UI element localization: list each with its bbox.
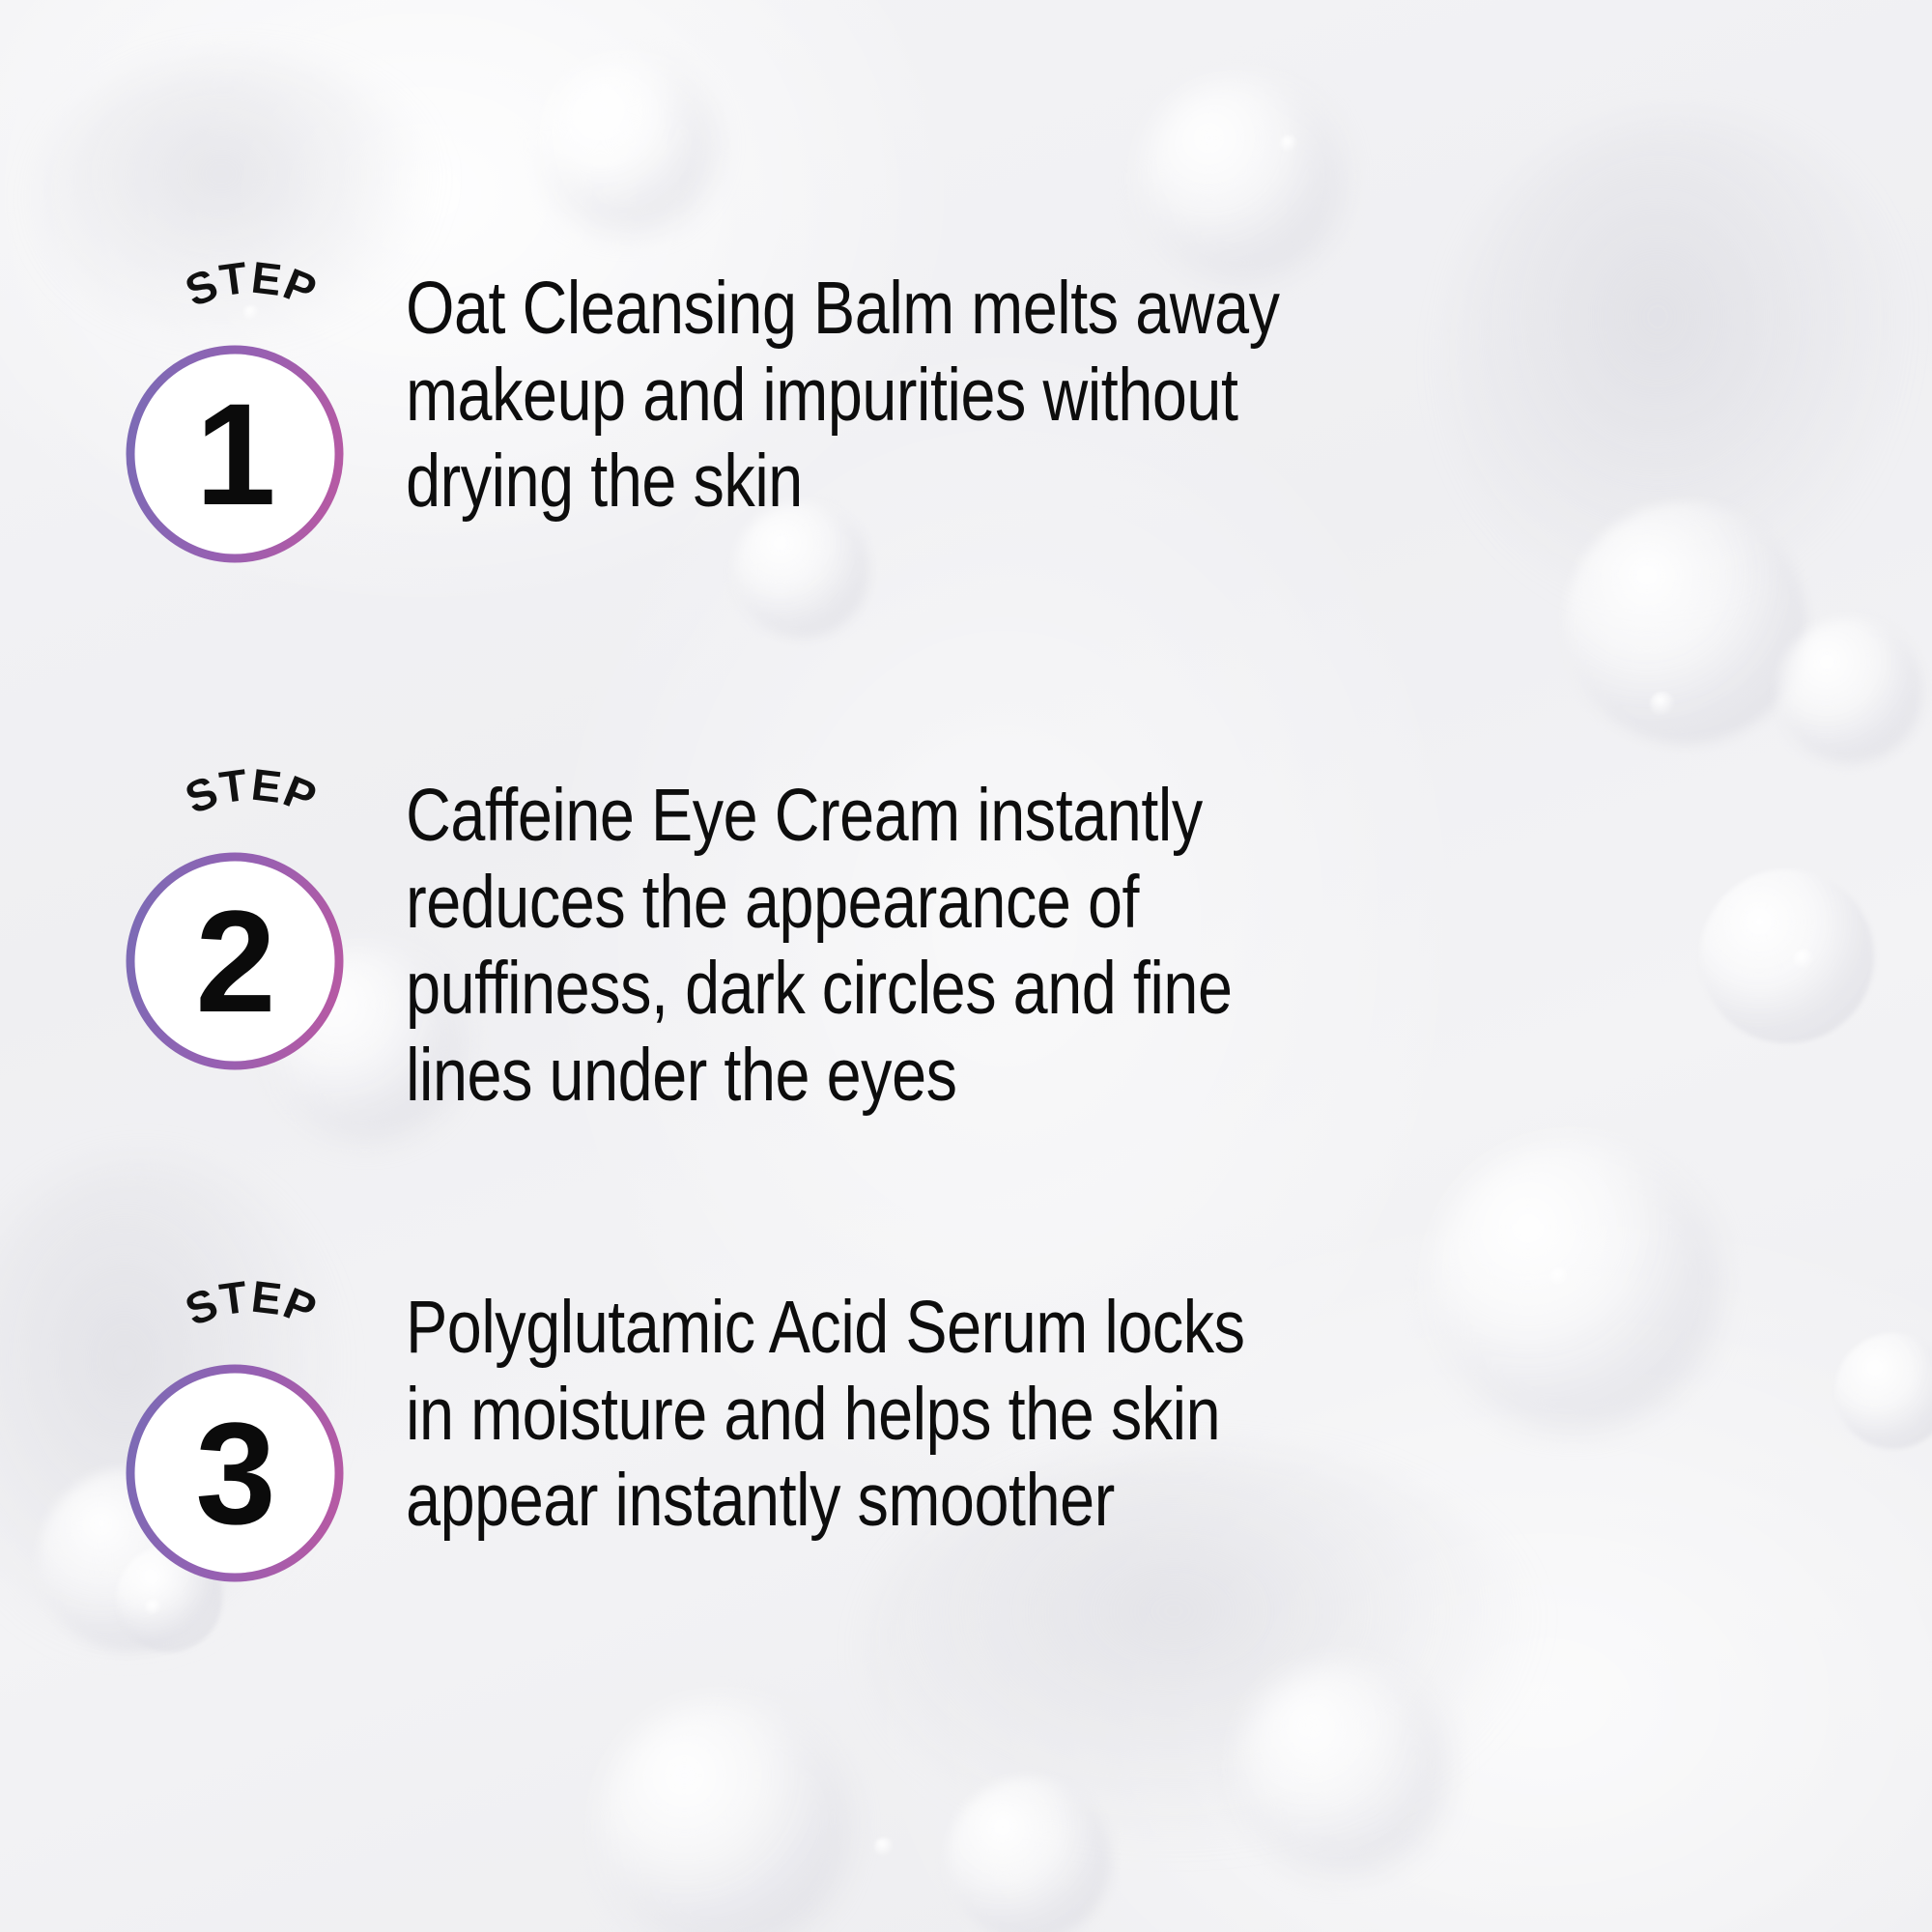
steps-list: STEP xyxy=(0,0,1932,1932)
step-label-text: STEP xyxy=(178,759,324,824)
svg-text:STEP: STEP xyxy=(178,252,324,317)
step-text-2: Caffeine Eye Cream instantly reduces the… xyxy=(396,773,1654,1120)
infographic-canvas: STEP xyxy=(0,0,1932,1932)
step-row-2: STEP xyxy=(106,773,1893,1120)
step-row-3: STEP xyxy=(106,1285,1893,1545)
svg-text:STEP: STEP xyxy=(178,759,324,824)
step-text-3: Polyglutamic Acid Serum locks in moistur… xyxy=(396,1285,1654,1545)
step-number-1: 1 xyxy=(124,343,346,565)
step-label-text: STEP xyxy=(178,252,324,317)
step-number-2: 2 xyxy=(124,850,346,1072)
step-label-arc-2: STEP xyxy=(106,773,396,860)
svg-text:STEP: STEP xyxy=(178,1271,324,1336)
step-number-3: 3 xyxy=(124,1362,346,1584)
step-label-arc-3: STEP xyxy=(106,1285,396,1372)
step-label-text: STEP xyxy=(178,1271,324,1336)
step-label-arc-1: STEP xyxy=(106,266,396,353)
step-text-1: Oat Cleansing Balm melts away makeup and… xyxy=(396,266,1654,526)
step-row-1: STEP xyxy=(106,266,1893,526)
